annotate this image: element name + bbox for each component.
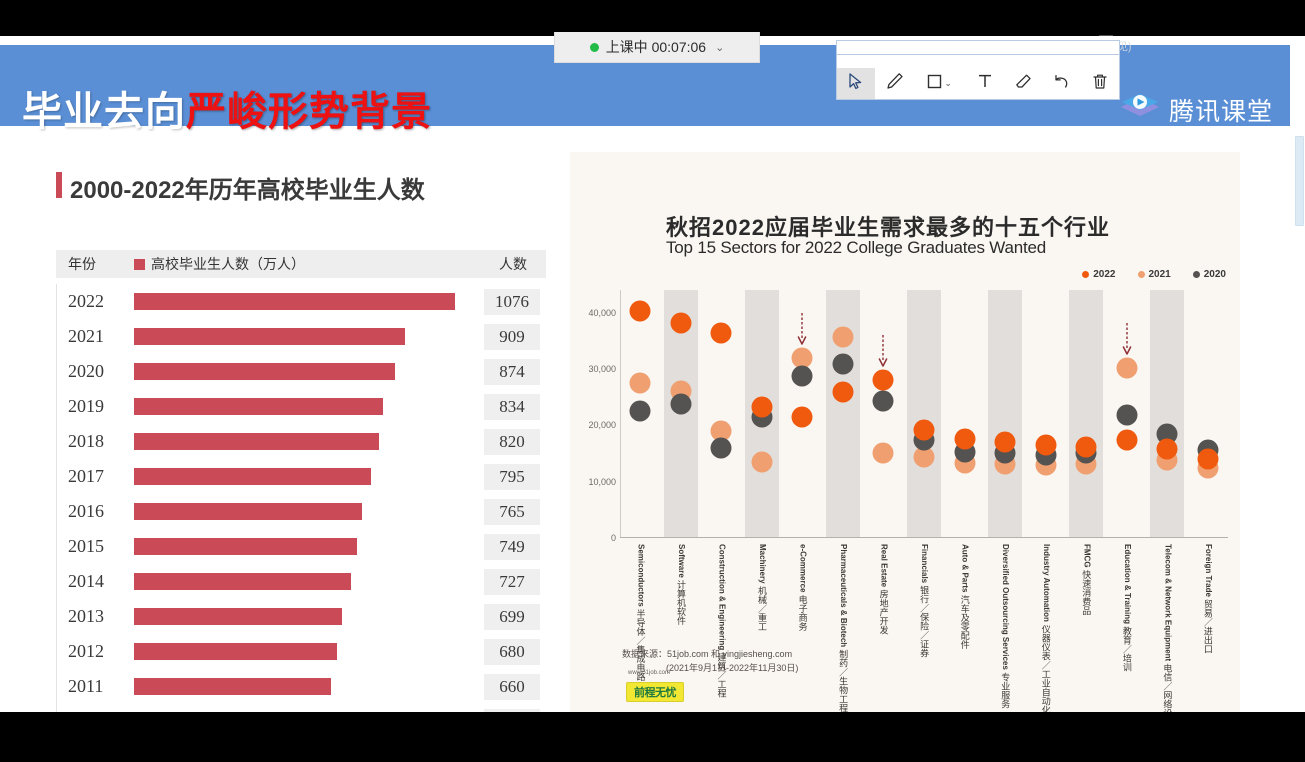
row-year: 2017 bbox=[56, 466, 134, 487]
source-line-1: 数据来源：51job.com 和 yingjiesheng.com bbox=[622, 649, 792, 659]
down-arrow-annotation-icon bbox=[878, 334, 888, 368]
page-title: 毕业去向严峻形势背景 bbox=[22, 92, 432, 132]
x-axis-label-en: Machinery bbox=[758, 544, 767, 584]
x-axis-label-cn: 仪器仪表／工业自动化 bbox=[1041, 624, 1051, 712]
cursor-icon bbox=[848, 73, 864, 95]
data-point-2022 bbox=[1197, 448, 1218, 469]
text-icon bbox=[977, 73, 993, 94]
data-point-2020 bbox=[792, 365, 813, 386]
legend-dot-icon bbox=[1193, 271, 1200, 278]
row-year: 2011 bbox=[56, 676, 134, 697]
row-bar bbox=[134, 468, 371, 485]
table-row: 2021909 bbox=[56, 319, 546, 354]
data-point-2022 bbox=[670, 313, 691, 334]
right-chart-legend: 202220212020 bbox=[1082, 269, 1226, 280]
row-bar-cell bbox=[134, 599, 474, 634]
trash-icon bbox=[1092, 73, 1108, 95]
x-axis-label-en: Software bbox=[677, 544, 686, 578]
data-point-2022 bbox=[711, 323, 732, 344]
sectors-scatter-chart-panel: 秋招2022应届毕业生需求最多的十五个行业 Top 15 Sectors for… bbox=[570, 152, 1240, 712]
row-value-cell: 874 bbox=[474, 359, 546, 385]
data-point-2022 bbox=[751, 397, 772, 418]
square-icon bbox=[927, 74, 942, 94]
data-point-2020 bbox=[873, 391, 894, 412]
x-axis-label: e-Commerce 电子商务 bbox=[797, 544, 807, 631]
row-value: 680 bbox=[484, 639, 540, 665]
data-point-2021 bbox=[873, 443, 894, 464]
x-axis-label-cn: 教育／培训 bbox=[1122, 627, 1132, 672]
x-axis-label-en: Real Estate bbox=[880, 544, 889, 587]
data-point-2020 bbox=[1116, 405, 1137, 426]
row-year: 2012 bbox=[56, 641, 134, 662]
row-bar-cell bbox=[134, 564, 474, 599]
scrollbar-thumb[interactable] bbox=[1295, 136, 1304, 226]
row-bar-cell bbox=[134, 529, 474, 564]
row-value-cell: 795 bbox=[474, 464, 546, 490]
row-year: 2014 bbox=[56, 571, 134, 592]
x-axis-label-cn: 汽车及零配件 bbox=[960, 595, 970, 649]
y-axis-tick-label: 40,000 bbox=[588, 308, 616, 318]
row-bar-cell bbox=[134, 354, 474, 389]
row-value-cell: 1076 bbox=[474, 289, 546, 315]
row-value: 765 bbox=[484, 499, 540, 525]
brand: 腾讯课堂 bbox=[1118, 90, 1273, 130]
annotation-toolbar-titlebar: — bbox=[836, 40, 1120, 55]
x-axis-label-cn: 机械／重工 bbox=[757, 586, 767, 631]
row-value-cell: 820 bbox=[474, 429, 546, 455]
x-axis-label-cn: 贸易／进出口 bbox=[1203, 599, 1213, 653]
x-axis-label-en: Telecom & Network Equipment bbox=[1163, 544, 1172, 661]
row-bar bbox=[134, 608, 342, 625]
table-row: 2017795 bbox=[56, 459, 546, 494]
x-axis-label: FMCG 快速消费品 bbox=[1081, 544, 1091, 615]
y-axis-tick-label: 0 bbox=[611, 533, 616, 543]
row-value-cell: 680 bbox=[474, 639, 546, 665]
row-year: 2020 bbox=[56, 361, 134, 382]
right-chart-subtitle: Top 15 Sectors for 2022 College Graduate… bbox=[666, 238, 1046, 258]
x-axis-label: Machinery 机械／重工 bbox=[757, 544, 767, 631]
x-axis-label-en: Diversified Outsourcing Services bbox=[1001, 544, 1010, 670]
row-bar-cell bbox=[134, 319, 474, 354]
row-value: 749 bbox=[484, 534, 540, 560]
row-year: 2010 bbox=[56, 711, 134, 712]
left-chart-title: 2000-2022年历年高校毕业生人数 bbox=[56, 170, 425, 205]
table-row: 2015749 bbox=[56, 529, 546, 564]
x-axis-label: Industry Automation 仪器仪表／工业自动化 bbox=[1040, 544, 1050, 712]
data-point-2022 bbox=[873, 370, 894, 391]
x-axis-label-cn: 银行／保险／证券 bbox=[919, 586, 929, 658]
row-bar-cell bbox=[134, 424, 474, 459]
data-point-2022 bbox=[1035, 435, 1056, 456]
slide-title-accent: 严峻形势背景 bbox=[186, 90, 432, 134]
class-status-label: 上课中 00:07:06 bbox=[606, 37, 706, 57]
table-row: 2012680 bbox=[56, 634, 546, 669]
row-bar bbox=[134, 678, 331, 695]
row-year: 2016 bbox=[56, 501, 134, 522]
data-point-2022 bbox=[954, 429, 975, 450]
row-value-cell: 699 bbox=[474, 604, 546, 630]
table-row: 2019834 bbox=[56, 389, 546, 424]
x-axis-label-en: FMCG bbox=[1082, 544, 1091, 568]
row-value-cell: 749 bbox=[474, 534, 546, 560]
cursor-tool-button[interactable] bbox=[837, 68, 875, 99]
table-row: 2014727 bbox=[56, 564, 546, 599]
data-point-2022 bbox=[914, 419, 935, 440]
x-axis-label: Foreign Trade 贸易／进出口 bbox=[1203, 544, 1213, 653]
column-header-year: 年份 bbox=[56, 254, 134, 274]
x-axis-label-en: Education & Training bbox=[1123, 544, 1132, 624]
row-value: 834 bbox=[484, 394, 540, 420]
class-status-pill[interactable]: 上课中 00:07:06 ⌄ bbox=[554, 32, 760, 63]
data-point-2021 bbox=[1116, 357, 1137, 378]
row-value-cell: 834 bbox=[474, 394, 546, 420]
data-point-2020 bbox=[630, 400, 651, 421]
row-value: 631 bbox=[484, 709, 540, 713]
tencent-classroom-logo-icon bbox=[1118, 90, 1162, 130]
row-bar bbox=[134, 538, 357, 555]
row-value-cell: 631 bbox=[474, 709, 546, 713]
row-value: 660 bbox=[484, 674, 540, 700]
x-axis-label-en: e-Commerce bbox=[799, 544, 808, 592]
x-axis-line bbox=[620, 537, 1228, 538]
row-bar bbox=[134, 643, 337, 660]
row-bar-cell bbox=[134, 389, 474, 424]
x-axis-label-cn: 快速消费品 bbox=[1081, 570, 1091, 615]
data-point-2022 bbox=[1076, 436, 1097, 457]
data-point-2022 bbox=[1157, 438, 1178, 459]
row-value: 727 bbox=[484, 569, 540, 595]
legend-label: 高校毕业生人数（万人） bbox=[151, 254, 305, 274]
screen-root: 毕业去向严峻形势背景 腾讯课堂 2000-2022年历年高校毕业生人数 bbox=[0, 0, 1305, 762]
left-chart-rows: 2022107620219092020874201983420188202017… bbox=[56, 284, 546, 712]
data-point-2021 bbox=[832, 327, 853, 348]
x-axis-label-en: Industry Automation bbox=[1042, 544, 1051, 622]
delete-tool-button[interactable] bbox=[1081, 68, 1119, 99]
row-value-cell: 727 bbox=[474, 569, 546, 595]
legend-item: 2020 bbox=[1193, 269, 1226, 280]
slide-canvas: 毕业去向严峻形势背景 腾讯课堂 2000-2022年历年高校毕业生人数 bbox=[0, 36, 1305, 712]
annotation-tool-strip: ⌄ bbox=[837, 68, 1119, 99]
data-point-2022 bbox=[1116, 430, 1137, 451]
data-point-2020 bbox=[711, 438, 732, 459]
row-bar-cell bbox=[134, 634, 474, 669]
x-axis-label-cn: 制药／生物工程 bbox=[838, 650, 848, 712]
data-point-2020 bbox=[832, 353, 853, 374]
table-row: 2011660 bbox=[56, 669, 546, 704]
table-row: 2018820 bbox=[56, 424, 546, 459]
row-value: 909 bbox=[484, 324, 540, 350]
data-point-2022 bbox=[832, 382, 853, 403]
pen-icon bbox=[886, 72, 904, 95]
y-axis-tick-label: 10,000 bbox=[588, 477, 616, 487]
chevron-down-icon[interactable]: ⌄ bbox=[715, 41, 724, 54]
x-axis-label: Financials 银行／保险／证券 bbox=[919, 544, 929, 658]
plot-band bbox=[1150, 290, 1185, 538]
x-axis-label-en: Construction & Engineering bbox=[718, 544, 727, 650]
row-year: 2019 bbox=[56, 396, 134, 417]
row-bar bbox=[134, 363, 395, 380]
brand-name: 腾讯课堂 bbox=[1169, 92, 1273, 128]
x-axis-label-en: Auto & Parts bbox=[961, 544, 970, 592]
live-dot-icon bbox=[590, 43, 599, 52]
data-point-2022 bbox=[995, 432, 1016, 453]
pen-tool-button[interactable] bbox=[875, 68, 913, 99]
data-point-2022 bbox=[792, 406, 813, 427]
row-year: 2021 bbox=[56, 326, 134, 347]
row-value-cell: 909 bbox=[474, 324, 546, 350]
x-axis-label-cn: 电子商务 bbox=[798, 595, 808, 631]
legend-item: 2021 bbox=[1138, 269, 1171, 280]
row-value: 874 bbox=[484, 359, 540, 385]
row-bar bbox=[134, 573, 351, 590]
slide-title-prefix: 毕业去向 bbox=[22, 90, 186, 134]
x-axis-label-cn: 专业服务 bbox=[1000, 672, 1010, 708]
table-row: 2013699 bbox=[56, 599, 546, 634]
x-axis-label-cn: 计算机软件 bbox=[676, 580, 686, 625]
row-bar bbox=[134, 398, 383, 415]
legend-label: 2022 bbox=[1093, 269, 1115, 280]
left-chart-legend: 高校毕业生人数（万人） bbox=[134, 254, 480, 274]
annotation-toolbar: ⌄ bbox=[836, 54, 1120, 100]
row-value: 1076 bbox=[484, 289, 540, 315]
x-axis-label-cn: 房地产开发 bbox=[879, 590, 889, 635]
table-row: 2010631 bbox=[56, 704, 546, 712]
right-chart-plot-area: 010,00020,00030,00040,000 bbox=[620, 290, 1228, 538]
x-axis-label: Software 计算机软件 bbox=[676, 544, 686, 625]
undo-icon bbox=[1053, 73, 1070, 95]
y-axis-tick-label: 20,000 bbox=[588, 420, 616, 430]
x-axis-label: Real Estate 房地产开发 bbox=[878, 544, 888, 635]
row-year: 2015 bbox=[56, 536, 134, 557]
row-bar bbox=[134, 503, 362, 520]
legend-swatch-icon bbox=[134, 259, 145, 270]
legend-dot-icon bbox=[1138, 271, 1145, 278]
row-value-cell: 765 bbox=[474, 499, 546, 525]
row-value: 795 bbox=[484, 464, 540, 490]
row-value-cell: 660 bbox=[474, 674, 546, 700]
row-year: 2018 bbox=[56, 431, 134, 452]
eraser-icon bbox=[1015, 73, 1032, 95]
legend-dot-icon bbox=[1082, 271, 1089, 278]
row-bar bbox=[134, 293, 455, 310]
row-value: 820 bbox=[484, 429, 540, 455]
row-bar-cell bbox=[134, 669, 474, 704]
row-year: 2013 bbox=[56, 606, 134, 627]
minimize-button[interactable]: — bbox=[1095, 27, 1117, 41]
data-point-2021 bbox=[751, 451, 772, 472]
data-point-2022 bbox=[630, 301, 651, 322]
text-tool-button[interactable] bbox=[966, 68, 1004, 99]
row-bar-cell bbox=[134, 284, 474, 319]
undo-tool-button[interactable] bbox=[1042, 68, 1080, 99]
plot-band bbox=[907, 290, 942, 538]
plot-band bbox=[1069, 290, 1104, 538]
row-bar-cell bbox=[134, 494, 474, 529]
row-bar bbox=[134, 433, 379, 450]
row-bar-cell bbox=[134, 704, 474, 712]
table-row: 2020874 bbox=[56, 354, 546, 389]
y-axis-tick-label: 30,000 bbox=[588, 364, 616, 374]
x-axis-label: Pharmaceuticals & Biotech 制药／生物工程 bbox=[838, 544, 848, 712]
legend-label: 2020 bbox=[1204, 269, 1226, 280]
graduates-bar-chart-panel: 2000-2022年历年高校毕业生人数 年份 高校毕业生人数（万人） 人数 20… bbox=[42, 152, 560, 712]
letterbox-bottom bbox=[0, 712, 1305, 762]
row-value: 699 bbox=[484, 604, 540, 630]
down-arrow-annotation-icon bbox=[1122, 322, 1132, 356]
table-row: 2016765 bbox=[56, 494, 546, 529]
source-logo-url: www.51job.com bbox=[628, 670, 670, 676]
source-logo-51job: 前程无忧 bbox=[626, 682, 684, 702]
legend-label: 2021 bbox=[1149, 269, 1171, 280]
x-axis-label: Auto & Parts 汽车及零配件 bbox=[959, 544, 969, 649]
x-axis-label-en: Pharmaceuticals & Biotech bbox=[839, 544, 848, 647]
x-axis-label-cn: 电信／网络设备 bbox=[1162, 664, 1172, 712]
x-axis-label: Diversified Outsourcing Services 专业服务 bbox=[1000, 544, 1010, 708]
chevron-down-icon[interactable]: ⌄ bbox=[944, 78, 952, 89]
x-axis-label: Telecom & Network Equipment 电信／网络设备 bbox=[1162, 544, 1172, 712]
y-axis-line bbox=[620, 290, 621, 538]
down-arrow-annotation-icon bbox=[797, 312, 807, 346]
x-axis-label-en: Financials bbox=[920, 544, 929, 583]
data-point-2021 bbox=[630, 373, 651, 394]
x-axis-label-en: Semiconductors bbox=[636, 544, 645, 607]
column-header-count: 人数 bbox=[480, 254, 546, 274]
legend-item: 2022 bbox=[1082, 269, 1115, 280]
x-axis-label: Education & Training 教育／培训 bbox=[1121, 544, 1131, 672]
left-chart-header-row: 年份 高校毕业生人数（万人） 人数 bbox=[56, 250, 546, 278]
eraser-tool-button[interactable] bbox=[1004, 68, 1042, 99]
data-point-2020 bbox=[670, 393, 691, 414]
plot-band bbox=[988, 290, 1023, 538]
row-year: 2022 bbox=[56, 291, 134, 312]
row-bar bbox=[134, 328, 405, 345]
x-axis-label-en: Foreign Trade bbox=[1204, 544, 1213, 597]
row-bar-cell bbox=[134, 459, 474, 494]
shape-tool-button[interactable]: ⌄ bbox=[914, 68, 966, 99]
table-row: 20221076 bbox=[56, 284, 546, 319]
